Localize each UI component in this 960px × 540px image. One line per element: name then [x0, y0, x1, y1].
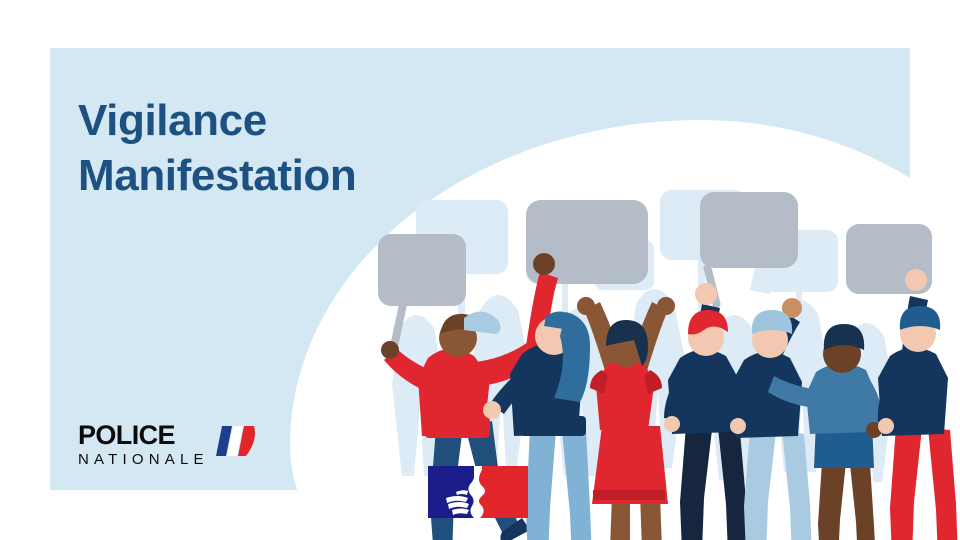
fist-left: [381, 341, 399, 359]
slide-canvas: Vigilance Manifestation: [0, 0, 960, 540]
republique-francaise-mark: [428, 466, 528, 518]
fist-raised: [533, 253, 555, 275]
page-title: Vigilance Manifestation: [78, 93, 356, 204]
french-flag-swoosh-icon: [216, 424, 258, 463]
logo-wordmark: POLICE NATIONALE: [78, 422, 209, 467]
logo-nationale-text: NATIONALE: [78, 452, 209, 467]
logo-police-text: POLICE: [78, 422, 209, 449]
protest-illustration: [330, 178, 960, 540]
police-nationale-logo: POLICE NATIONALE: [78, 422, 258, 467]
figure-red-pants: [878, 269, 960, 540]
